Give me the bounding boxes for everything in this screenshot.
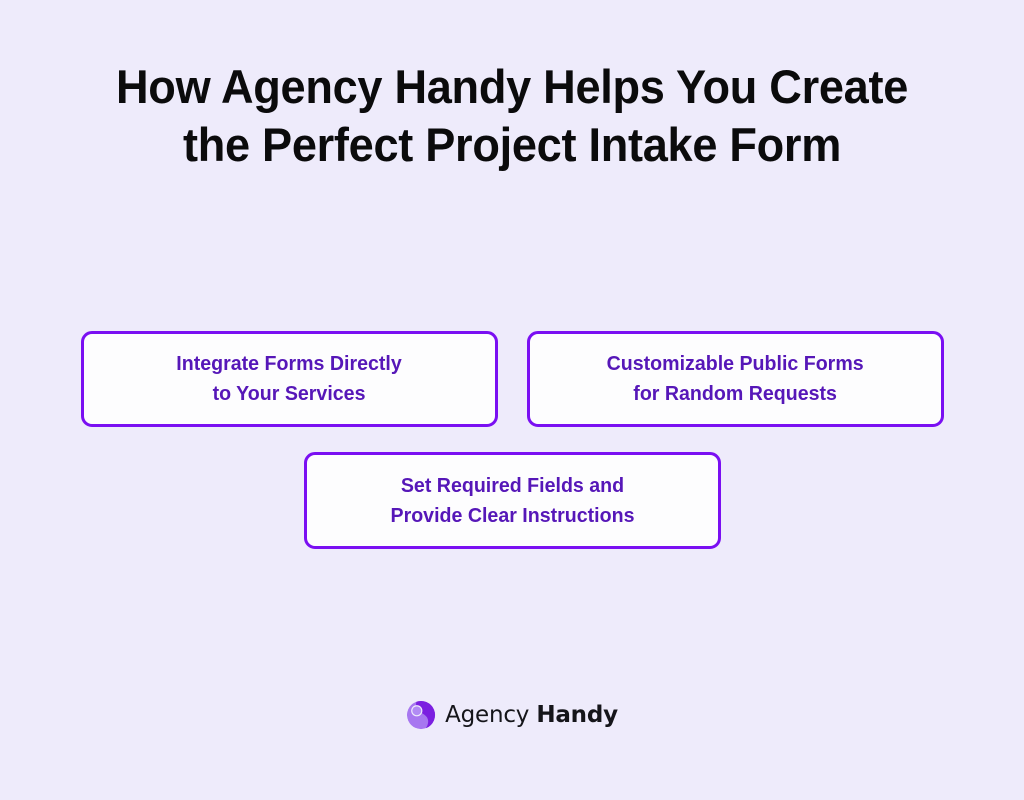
feature-card-label: Integrate Forms Directly to Your Service… — [177, 349, 402, 409]
infographic-page: How Agency Handy Helps You Create the Pe… — [0, 0, 1024, 800]
feature-card-customizable-public-forms[interactable]: Customizable Public Forms for Random Req… — [527, 331, 944, 427]
brand-logo-word-bold: Handy — [536, 702, 618, 728]
brand-logo: Agency Handy — [0, 700, 1024, 730]
agency-handy-logo-icon — [406, 700, 436, 730]
brand-logo-wordmark: Agency Handy — [445, 700, 618, 730]
feature-card-integrate-forms[interactable]: Integrate Forms Directly to Your Service… — [81, 331, 498, 427]
feature-card-label: Set Required Fields and Provide Clear In… — [391, 471, 635, 531]
feature-card-label: Customizable Public Forms for Random Req… — [607, 349, 864, 409]
feature-card-set-required-fields[interactable]: Set Required Fields and Provide Clear In… — [304, 452, 721, 549]
feature-card-group: Integrate Forms Directly to Your Service… — [0, 0, 1024, 800]
brand-logo-word-light: Agency — [445, 702, 529, 728]
